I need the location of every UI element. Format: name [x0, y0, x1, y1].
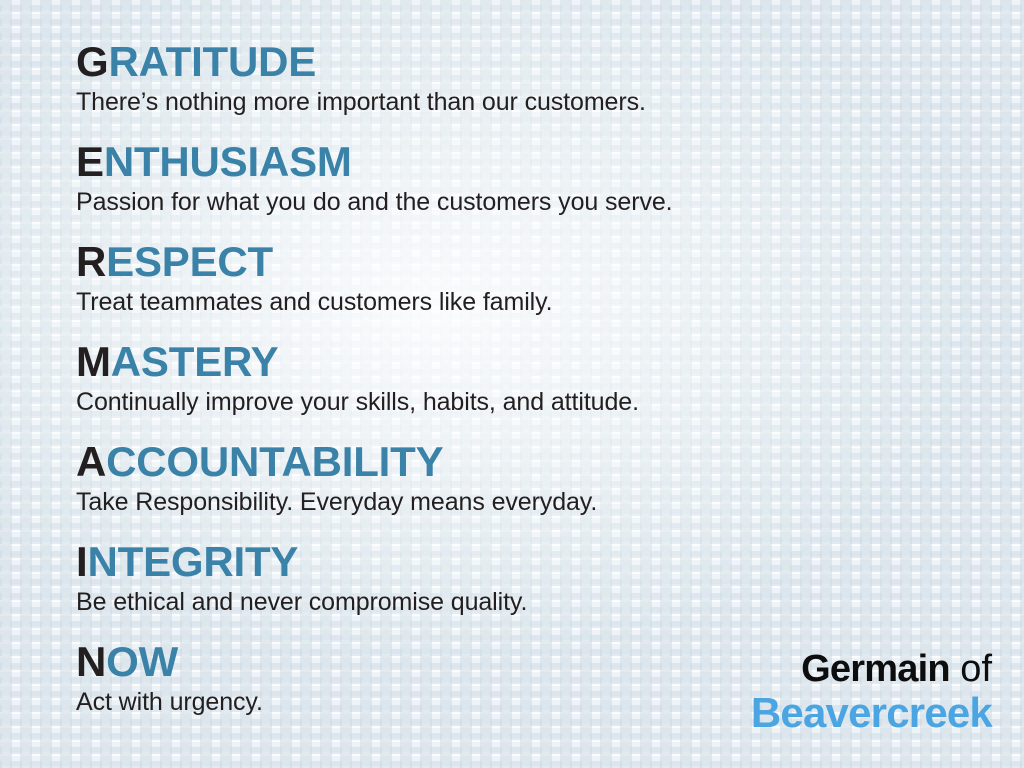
value-heading: ACCOUNTABILITY [76, 440, 597, 484]
value-description: Continually improve your skills, habits,… [76, 387, 639, 417]
value-heading: NOW [76, 640, 263, 684]
value-heading: RESPECT [76, 240, 553, 284]
value-heading: INTEGRITY [76, 540, 527, 584]
value-initial-letter: N [76, 638, 106, 685]
logo-location: Beavercreek [751, 690, 992, 736]
value-description: Take Responsibility. Everyday means ever… [76, 487, 597, 517]
value-heading-rest: RATITUDE [108, 38, 316, 85]
logo-brand-name: Germain [801, 648, 950, 690]
value-description: Be ethical and never compromise quality. [76, 587, 527, 617]
value-heading-rest: ESPECT [106, 238, 273, 285]
value-initial-letter: G [76, 38, 108, 85]
values-poster: GRATITUDEThere’s nothing more important … [0, 0, 1024, 768]
value-heading-rest: NTEGRITY [87, 538, 298, 585]
value-initial-letter: I [76, 538, 87, 585]
logo-line-primary: Germain of [751, 648, 992, 690]
value-heading-rest: NTHUSIASM [104, 138, 352, 185]
value-heading: ENTHUSIASM [76, 140, 673, 184]
value-initial-letter: A [76, 438, 106, 485]
value-description: There’s nothing more important than our … [76, 87, 646, 117]
value-initial-letter: R [76, 238, 106, 285]
logo-connector: of [950, 648, 992, 690]
company-logo: Germain of Beavercreek [751, 648, 992, 736]
value-heading-rest: CCOUNTABILITY [106, 438, 443, 485]
value-initial-letter: M [76, 338, 111, 385]
value-heading-rest: OW [106, 638, 178, 685]
value-block: RESPECTTreat teammates and customers lik… [76, 240, 553, 317]
value-block: GRATITUDEThere’s nothing more important … [76, 40, 646, 117]
value-block: ACCOUNTABILITYTake Responsibility. Every… [76, 440, 597, 517]
value-initial-letter: E [76, 138, 104, 185]
value-heading-rest: ASTERY [111, 338, 279, 385]
value-description: Treat teammates and customers like famil… [76, 287, 553, 317]
value-description: Act with urgency. [76, 687, 263, 717]
value-block: NOWAct with urgency. [76, 640, 263, 717]
value-heading: MASTERY [76, 340, 639, 384]
value-block: INTEGRITYBe ethical and never compromise… [76, 540, 527, 617]
value-heading: GRATITUDE [76, 40, 646, 84]
value-description: Passion for what you do and the customer… [76, 187, 673, 217]
value-block: MASTERYContinually improve your skills, … [76, 340, 639, 417]
value-block: ENTHUSIASMPassion for what you do and th… [76, 140, 673, 217]
